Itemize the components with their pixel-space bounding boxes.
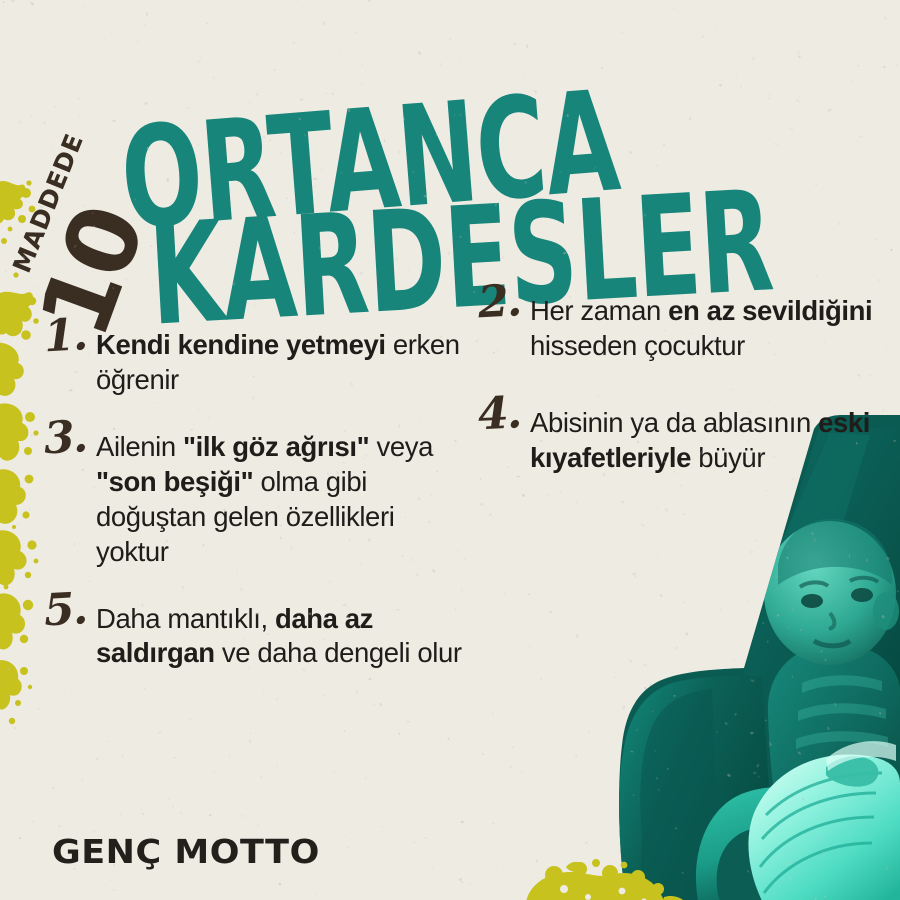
list-item-regular-text: Daha mantıklı, <box>96 603 275 634</box>
list-item-number: 5. <box>43 590 97 630</box>
list-item: 1. Kendi kendine yetmeyi erken öğrenir <box>44 322 464 398</box>
list-item-regular-text: büyür <box>691 442 765 473</box>
brand-logo: GENÇ MOTTO <box>52 832 320 871</box>
list-item-regular-text: veya <box>369 431 433 462</box>
list-item-regular-text: Her zaman <box>530 295 668 326</box>
list-item-regular-text: ve daha dengeli olur <box>215 637 462 668</box>
list-column-left: 1. Kendi kendine yetmeyi erken öğrenir 3… <box>44 322 464 697</box>
list-item-number: 4. <box>477 395 531 435</box>
list-item: 5. Daha mantıklı, daha az saldırgan ve d… <box>44 596 464 672</box>
list-item-bold-text: Kendi kendine yetmeyi <box>96 329 393 360</box>
list-item-number: 3. <box>43 419 97 459</box>
list-item-text: Ailenin "ilk göz ağrısı" veya "son beşiğ… <box>96 424 464 570</box>
list-item-bold-text: "son beşiği" <box>96 466 253 497</box>
list-item-text: Her zaman en az sevildiğini hisseden çoc… <box>530 288 878 364</box>
list-item-text: Kendi kendine yetmeyi erken öğrenir <box>96 322 464 398</box>
list-item-bold-text: en az sevildiğini <box>668 295 872 326</box>
list-item-regular-text: Ailenin <box>96 431 183 462</box>
list-item-text: Abisinin ya da ablasının eski kıyafetler… <box>530 400 878 476</box>
headline-block: MADDEDE 10 ORTANCA KARDESLER <box>0 60 900 290</box>
yellow-paint-blob-bottom <box>518 845 708 900</box>
list-item: 2. Her zaman en az sevildiğini hisseden … <box>478 288 878 364</box>
list-item: 4. Abisinin ya da ablasının eski kıyafet… <box>478 400 878 476</box>
list-item: 3. Ailenin "ilk göz ağrısı" veya "son be… <box>44 424 464 570</box>
list-item-regular-text: Abisinin ya da ablasının <box>530 407 818 438</box>
infographic-poster: MADDEDE 10 ORTANCA KARDESLER <box>0 0 900 900</box>
list-column-right: 2. Her zaman en az sevildiğini hisseden … <box>478 288 878 512</box>
list-item-regular-text: hisseden çocuktur <box>530 330 745 361</box>
list-item-text: Daha mantıklı, daha az saldırgan ve daha… <box>96 596 464 672</box>
list-item-number: 2. <box>477 283 531 323</box>
list-item-number: 1. <box>43 317 97 357</box>
list-item-bold-text: "ilk göz ağrısı" <box>183 431 369 462</box>
